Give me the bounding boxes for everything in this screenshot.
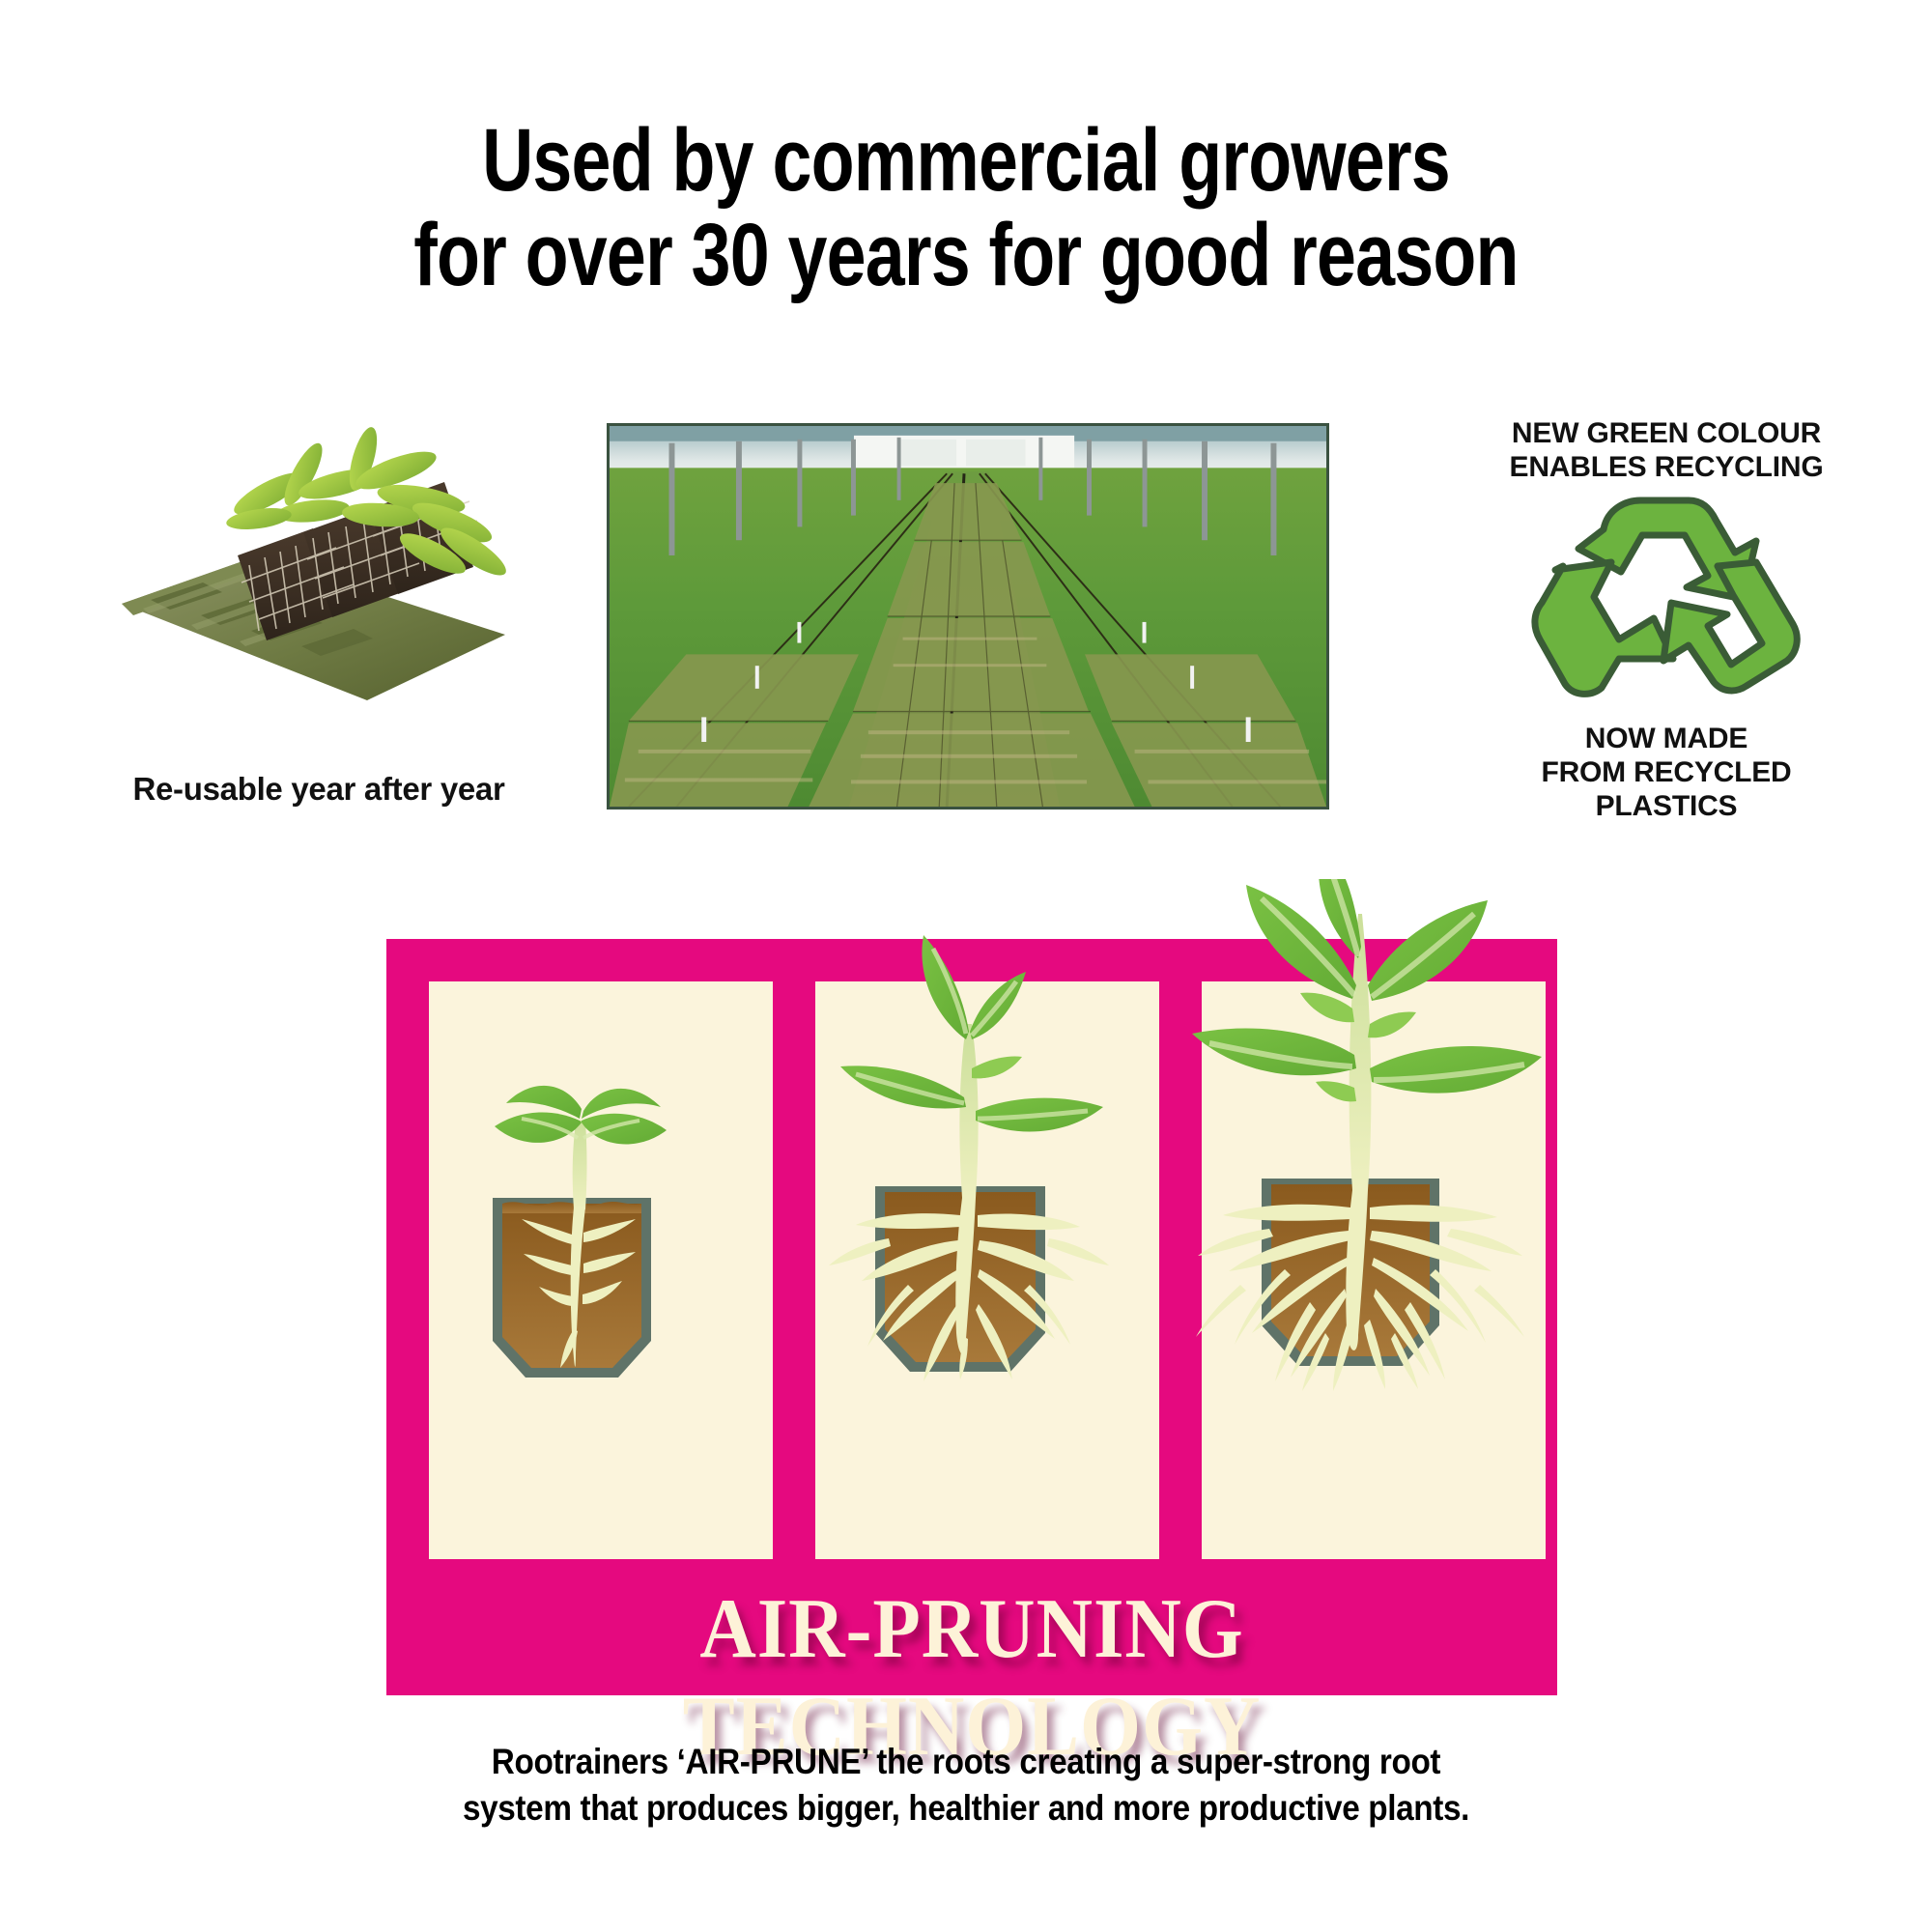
air-pruning-stage-1-cell xyxy=(429,981,773,1559)
air-pruning-stage-2-cell xyxy=(815,981,1159,1559)
tray-photo-caption: Re-usable year after year xyxy=(58,771,580,808)
bottom-caption: Rootrainers ‘AIR-PRUNE’ the roots creati… xyxy=(357,1739,1575,1832)
recycling-symbol-icon xyxy=(1519,495,1818,703)
infographic-root: Used by commercial growers for over 30 y… xyxy=(0,0,1932,1932)
page-headline: Used by commercial growers for over 30 y… xyxy=(193,114,1739,302)
greenhouse-photo xyxy=(607,423,1329,810)
air-pruning-stage-3-cell xyxy=(1202,981,1546,1559)
recycling-top-text: NEW GREEN COLOUR ENABLES RECYCLING xyxy=(1463,417,1869,485)
recycling-bottom-text: NOW MADE FROM RECYCLED PLASTICS xyxy=(1463,723,1869,823)
rootrainer-tray-photo xyxy=(114,411,515,729)
